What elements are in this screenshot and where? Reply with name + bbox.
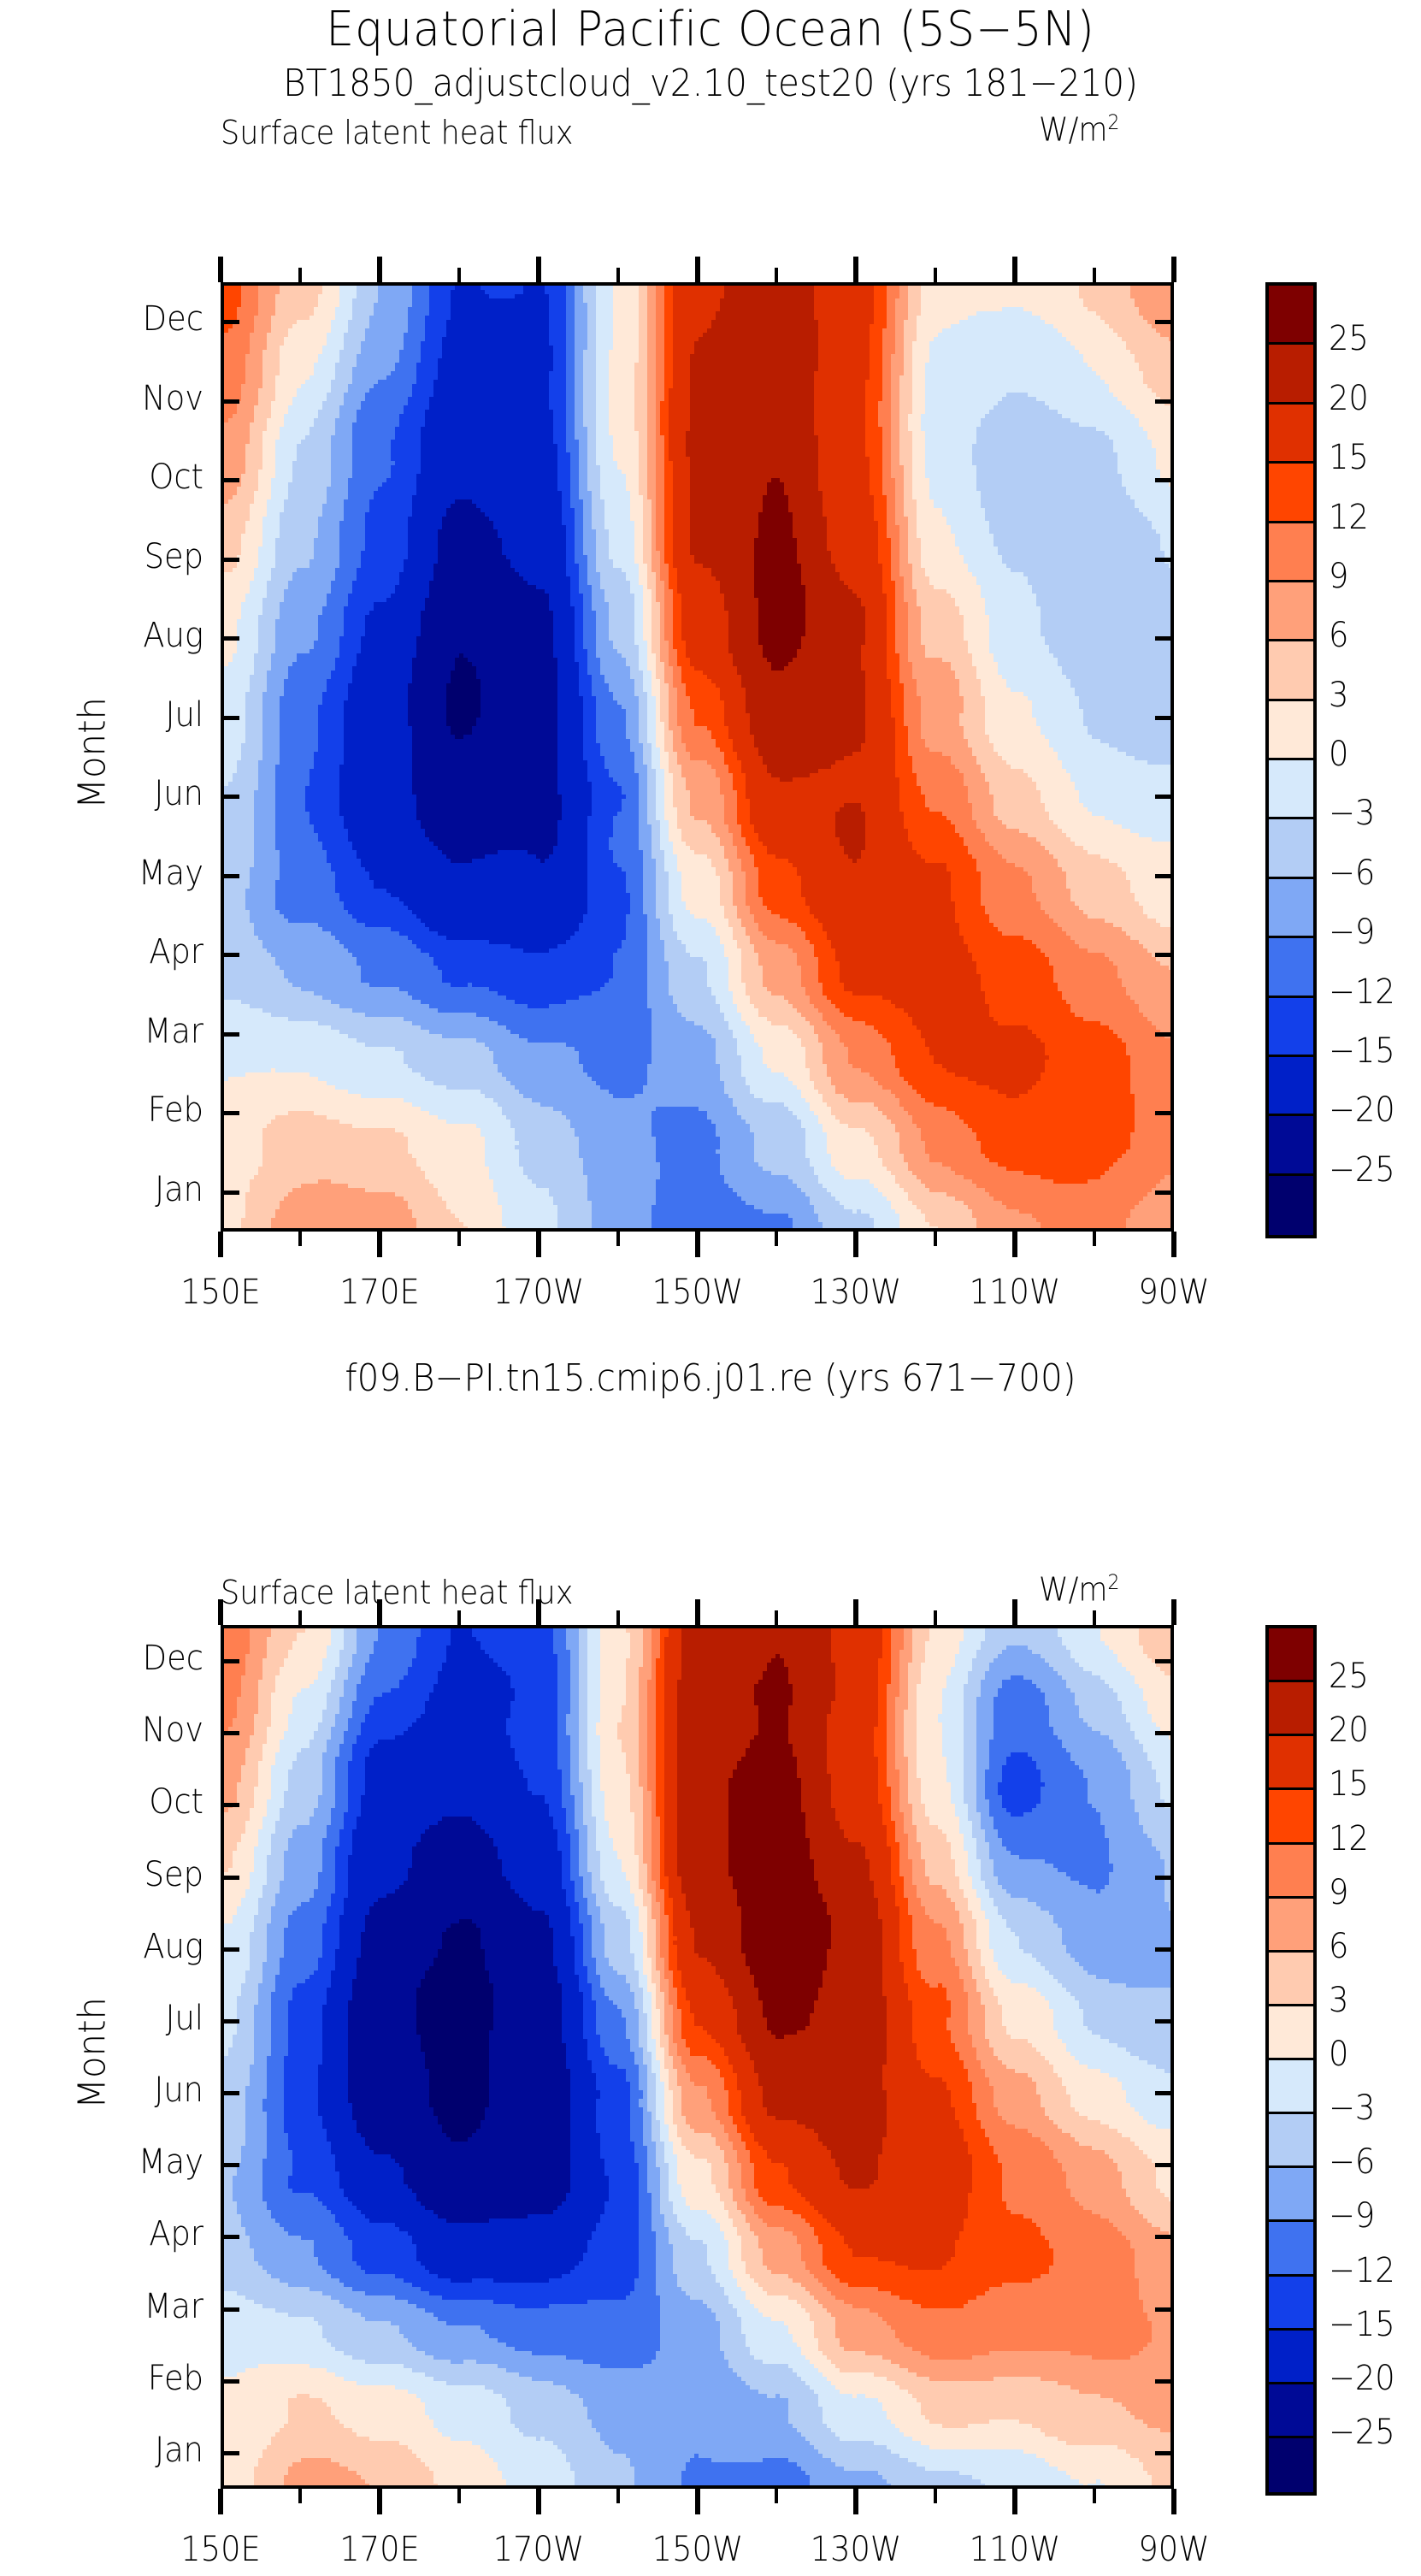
- colorbar-segment: [1269, 1682, 1313, 1736]
- colorbar-segment: [1269, 345, 1313, 404]
- x-tick-minor: [457, 2489, 461, 2503]
- x-tick-minor: [616, 268, 620, 282]
- y-tick: [1155, 1731, 1174, 1735]
- y-tick-label: Jun: [78, 774, 203, 813]
- x-tick-minor: [298, 1232, 302, 1246]
- y-tick: [221, 2235, 239, 2239]
- x-tick-minor: [775, 1232, 778, 1246]
- x-tick-minor: [934, 1232, 937, 1246]
- x-tick-minor: [1093, 1232, 1096, 1246]
- y-tick: [1155, 399, 1174, 404]
- colorbar-segment: [1269, 2168, 1313, 2222]
- y-tick: [1155, 1111, 1174, 1115]
- x-tick-major: [377, 2489, 382, 2514]
- y-tick: [1155, 874, 1174, 878]
- y-tick: [221, 1803, 239, 1807]
- y-tick-label: Mar: [78, 2287, 203, 2326]
- x-tick-minor: [457, 268, 461, 282]
- x-tick-major: [695, 1599, 700, 1625]
- y-tick-label: Aug: [78, 1927, 203, 1966]
- x-tick-label: 90W: [1103, 2530, 1245, 2569]
- colorbar-segment: [1269, 1790, 1313, 1844]
- y-tick: [221, 874, 239, 878]
- colorbar-segment: [1269, 2006, 1313, 2060]
- x-tick-major: [536, 1232, 541, 1257]
- y-tick: [1155, 795, 1174, 799]
- panel-2-y-axis-label: Month: [71, 1931, 115, 2175]
- y-tick: [221, 1191, 239, 1195]
- colorbar-tick-label: −9: [1329, 913, 1375, 952]
- colorbar-tick-label: 9: [1329, 1873, 1348, 1912]
- y-tick-label: Nov: [78, 1710, 203, 1750]
- x-tick-minor: [457, 1610, 461, 1625]
- colorbar-segment: [1269, 641, 1313, 700]
- x-tick-label: 130W: [786, 2530, 928, 2569]
- panel-2-plot-area: [221, 1625, 1174, 2489]
- x-tick-label: 110W: [944, 1273, 1086, 1312]
- x-tick-major: [695, 2489, 700, 2514]
- y-tick-label: Jun: [78, 2071, 203, 2110]
- colorbar-segment: [1269, 1845, 1313, 1899]
- colorbar-segment: [1269, 1116, 1313, 1175]
- colorbar-tick-label: 12: [1329, 498, 1369, 537]
- y-tick: [221, 795, 239, 799]
- x-tick-major: [1171, 2489, 1176, 2514]
- colorbar-segment: [1269, 879, 1313, 938]
- x-tick-major: [536, 1599, 541, 1625]
- colorbar-segment: [1269, 819, 1313, 878]
- x-tick-label: 150E: [150, 1273, 292, 1312]
- x-tick-minor: [616, 1610, 620, 1625]
- y-tick-label: Mar: [78, 1012, 203, 1051]
- colorbar-segment: [1269, 2114, 1313, 2168]
- x-tick-major: [377, 257, 382, 282]
- colorbar-segment: [1269, 2277, 1313, 2331]
- colorbar-segment: [1269, 1953, 1313, 2006]
- x-tick-label: 150W: [627, 1273, 769, 1312]
- colorbar-tick-label: 15: [1329, 438, 1369, 477]
- x-tick-major: [1012, 1599, 1017, 1625]
- colorbar-tick-label: 3: [1329, 676, 1348, 715]
- y-tick: [1155, 558, 1174, 562]
- colorbar-tick-label: 0: [1329, 735, 1348, 774]
- x-tick-label: 170W: [468, 2530, 610, 2569]
- colorbar-tick-label: 20: [1329, 1710, 1369, 1750]
- panel-1-plot-area: [221, 282, 1174, 1232]
- units-exponent: 2: [1107, 110, 1119, 134]
- x-tick-minor: [775, 2489, 778, 2503]
- x-tick-major: [1171, 257, 1176, 282]
- y-tick-label: Dec: [78, 1639, 203, 1678]
- x-tick-major: [853, 2489, 858, 2514]
- x-tick-major: [218, 257, 223, 282]
- x-tick-major: [1171, 1232, 1176, 1257]
- colorbar-tick-label: 12: [1329, 1819, 1369, 1858]
- x-tick-minor: [298, 2489, 302, 2503]
- colorbar-segment: [1269, 523, 1313, 582]
- panel-2-title: f09.B−PI.tn15.cmip6.j01.re (yrs 671−700): [56, 1356, 1364, 1400]
- y-tick: [1155, 2451, 1174, 2455]
- colorbar-tick-label: −25: [1329, 1150, 1395, 1190]
- y-tick: [221, 2163, 239, 2167]
- colorbar-tick-label: 25: [1329, 1657, 1369, 1696]
- x-tick-major: [1012, 2489, 1017, 2514]
- x-tick-major: [218, 1232, 223, 1257]
- colorbar-panel-1: [1265, 282, 1317, 1238]
- y-tick-label: May: [78, 854, 203, 893]
- y-tick: [221, 1659, 239, 1663]
- units-exponent: 2: [1107, 1570, 1119, 1594]
- panel-2-variable-label: Surface latent heat flux: [221, 1574, 573, 1611]
- y-tick: [221, 716, 239, 720]
- y-tick: [1155, 1191, 1174, 1195]
- colorbar-tick-label: 20: [1329, 379, 1369, 418]
- colorbar-segment: [1269, 2384, 1313, 2438]
- y-tick: [221, 1032, 239, 1037]
- y-tick: [221, 2451, 239, 2455]
- y-tick: [221, 1731, 239, 1735]
- y-tick-label: Aug: [78, 616, 203, 655]
- y-tick: [1155, 2235, 1174, 2239]
- colorbar-segment: [1269, 938, 1313, 997]
- colorbar-tick-label: −6: [1329, 2142, 1375, 2182]
- y-tick: [1155, 1803, 1174, 1807]
- x-tick-label: 150W: [627, 2530, 769, 2569]
- y-tick-label: May: [78, 2142, 203, 2182]
- colorbar-segment: [1269, 405, 1313, 464]
- x-tick-minor: [298, 268, 302, 282]
- panel-2-units: W/m2: [1039, 1570, 1119, 1609]
- colorbar-tick-label: −12: [1329, 2251, 1395, 2290]
- x-tick-major: [1171, 1599, 1176, 1625]
- y-tick: [221, 1876, 239, 1880]
- y-tick: [221, 2091, 239, 2095]
- y-tick: [221, 399, 239, 404]
- y-tick: [221, 2307, 239, 2312]
- colorbar-segment: [1269, 1899, 1313, 1953]
- y-tick-label: Oct: [78, 458, 203, 497]
- colorbar-tick-label: −3: [1329, 2089, 1375, 2128]
- colorbar-tick-label: 6: [1329, 1927, 1348, 1966]
- y-tick-label: Jan: [78, 2431, 203, 2470]
- y-tick-label: Sep: [78, 537, 203, 576]
- y-tick: [1155, 478, 1174, 482]
- y-tick: [1155, 1032, 1174, 1037]
- y-tick: [1155, 2019, 1174, 2024]
- colorbar-tick-label: −3: [1329, 794, 1375, 833]
- colorbar-tick-label: −25: [1329, 2413, 1395, 2452]
- colorbar-tick-label: −6: [1329, 854, 1375, 893]
- colorbar-segment: [1269, 2438, 1313, 2492]
- x-tick-minor: [775, 1610, 778, 1625]
- panel-1-variable-label: Surface latent heat flux: [221, 114, 573, 151]
- units-text: W/m: [1039, 1571, 1107, 1609]
- y-tick: [221, 953, 239, 957]
- x-tick-major: [536, 2489, 541, 2514]
- x-tick-label: 170W: [468, 1273, 610, 1312]
- x-tick-major: [695, 1232, 700, 1257]
- x-tick-label: 150E: [150, 2530, 292, 2569]
- x-tick-major: [218, 2489, 223, 2514]
- y-tick-label: Apr: [78, 2214, 203, 2254]
- units-text: W/m: [1039, 111, 1107, 149]
- y-tick: [221, 1947, 239, 1952]
- colorbar-segment: [1269, 582, 1313, 641]
- y-tick: [1155, 1659, 1174, 1663]
- x-tick-label: 110W: [944, 2530, 1086, 2569]
- x-tick-major: [695, 257, 700, 282]
- y-tick-label: Feb: [78, 1090, 203, 1130]
- colorbar-segment: [1269, 998, 1313, 1057]
- y-tick-label: Jul: [78, 1999, 203, 2038]
- x-tick-minor: [934, 2489, 937, 2503]
- y-tick: [221, 636, 239, 641]
- y-tick: [221, 1111, 239, 1115]
- x-tick-major: [377, 1232, 382, 1257]
- colorbar-segment: [1269, 286, 1313, 345]
- x-tick-minor: [616, 1232, 620, 1246]
- y-tick-label: Apr: [78, 932, 203, 972]
- x-tick-minor: [934, 1610, 937, 1625]
- y-tick: [1155, 2307, 1174, 2312]
- colorbar-segment: [1269, 464, 1313, 523]
- panel-1-units: W/m2: [1039, 110, 1119, 149]
- colorbar-segment: [1269, 2060, 1313, 2114]
- y-tick-label: Oct: [78, 1782, 203, 1822]
- y-tick: [1155, 2379, 1174, 2384]
- y-tick-label: Feb: [78, 2359, 203, 2398]
- x-tick-label: 90W: [1103, 1273, 1245, 1312]
- colorbar-tick-label: −15: [1329, 2305, 1395, 2344]
- page-title: Equatorial Pacific Ocean (5S−5N): [50, 2, 1371, 57]
- x-tick-minor: [1093, 268, 1096, 282]
- colorbar-segment: [1269, 1176, 1313, 1235]
- colorbar-segment: [1269, 2222, 1313, 2276]
- colorbar-segment: [1269, 1057, 1313, 1116]
- x-tick-minor: [1093, 2489, 1096, 2503]
- x-tick-minor: [616, 2489, 620, 2503]
- y-tick: [1155, 320, 1174, 324]
- colorbar-tick-label: 3: [1329, 1981, 1348, 2020]
- y-tick: [221, 558, 239, 562]
- panel-1-y-axis-label: Month: [71, 631, 115, 875]
- y-tick: [221, 2379, 239, 2384]
- y-tick-label: Nov: [78, 379, 203, 418]
- x-tick-minor: [775, 268, 778, 282]
- y-tick: [1155, 1947, 1174, 1952]
- y-tick-label: Jan: [78, 1170, 203, 1209]
- y-tick: [1155, 1876, 1174, 1880]
- colorbar-tick-label: −20: [1329, 2359, 1395, 2398]
- y-tick: [1155, 953, 1174, 957]
- y-tick: [221, 320, 239, 324]
- x-tick-major: [1012, 1232, 1017, 1257]
- colorbar-tick-label: −20: [1329, 1090, 1395, 1130]
- y-tick-label: Jul: [78, 695, 203, 735]
- y-tick: [221, 2019, 239, 2024]
- colorbar-panel-2: [1265, 1625, 1317, 2496]
- figure-root: Equatorial Pacific Ocean (5S−5N) BT1850_…: [0, 0, 1421, 2576]
- x-tick-minor: [1093, 1610, 1096, 1625]
- colorbar-tick-label: −12: [1329, 972, 1395, 1012]
- colorbar-tick-label: 0: [1329, 2035, 1348, 2074]
- y-tick-label: Sep: [78, 1855, 203, 1894]
- y-tick: [1155, 636, 1174, 641]
- x-tick-major: [218, 1599, 223, 1625]
- x-tick-minor: [457, 1232, 461, 1246]
- y-tick: [1155, 2163, 1174, 2167]
- colorbar-tick-label: 25: [1329, 319, 1369, 358]
- colorbar-tick-label: 15: [1329, 1764, 1369, 1804]
- colorbar-segment: [1269, 760, 1313, 819]
- x-tick-major: [853, 1232, 858, 1257]
- colorbar-tick-label: 6: [1329, 616, 1348, 655]
- colorbar-segment: [1269, 2331, 1313, 2384]
- x-tick-minor: [298, 1610, 302, 1625]
- x-tick-label: 170E: [309, 2530, 451, 2569]
- x-tick-minor: [934, 268, 937, 282]
- colorbar-segment: [1269, 701, 1313, 760]
- colorbar-tick-label: 9: [1329, 557, 1348, 596]
- colorbar-segment: [1269, 1628, 1313, 1682]
- x-tick-major: [853, 1599, 858, 1625]
- y-tick: [1155, 716, 1174, 720]
- x-tick-major: [1012, 257, 1017, 282]
- x-tick-major: [377, 1599, 382, 1625]
- panel-1-title: BT1850_adjustcloud_v2.10_test20 (yrs 181…: [56, 62, 1364, 105]
- x-tick-label: 130W: [786, 1273, 928, 1312]
- y-tick: [221, 478, 239, 482]
- colorbar-tick-label: −15: [1329, 1031, 1395, 1071]
- x-tick-major: [853, 257, 858, 282]
- x-tick-label: 170E: [309, 1273, 451, 1312]
- colorbar-segment: [1269, 1736, 1313, 1790]
- y-tick-label: Dec: [78, 299, 203, 339]
- colorbar-tick-label: −9: [1329, 2196, 1375, 2236]
- y-tick: [1155, 2091, 1174, 2095]
- x-tick-major: [536, 257, 541, 282]
